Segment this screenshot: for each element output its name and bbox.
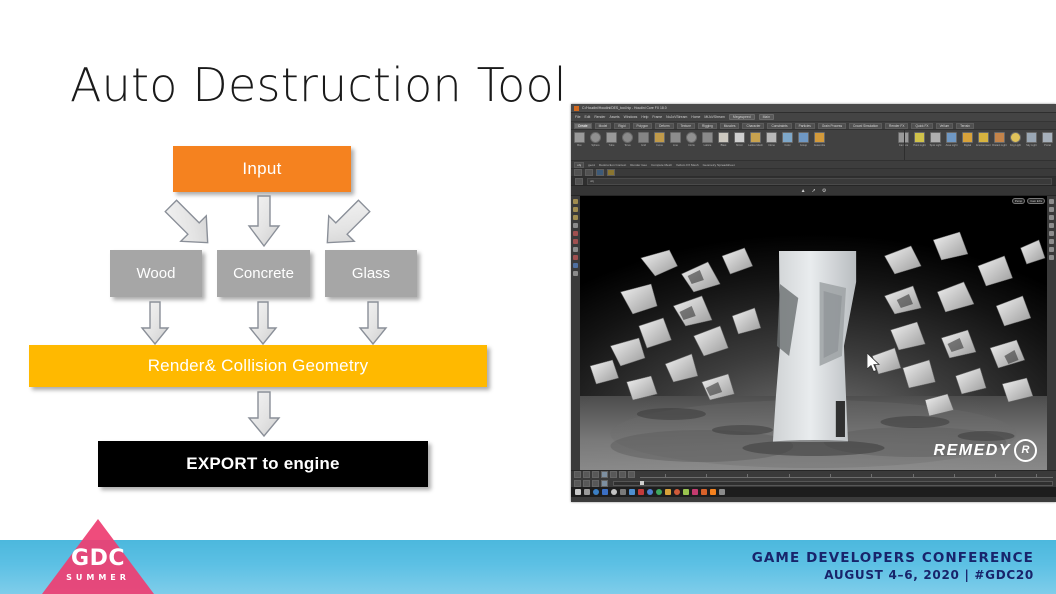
shelf-tool-pointlight[interactable]: Point Light [914,132,925,147]
houdini-taskbar-icon[interactable] [710,489,716,495]
shelf-tool-label: Lattice Mesh [748,144,763,147]
view-layout-icon[interactable] [1049,199,1054,204]
assemble-icon [814,132,825,143]
shelf-tool-label: Fog Light [1010,144,1021,147]
app-title-bar: C:/Houdini/Houdini/DES_tool.hip - Houdin… [571,104,1056,113]
shelf-tool-label: Grid [641,144,646,147]
shelf-tool-assemble[interactable]: Assemble [814,132,825,147]
scope-icon[interactable] [601,480,608,487]
shelf-tool-label: Area Light [946,144,958,147]
menu-item-windows[interactable]: Windows [624,115,638,119]
shelf-tool-label: Circle [688,144,695,147]
app-menu-bar[interactable]: File Edit Render Assets Windows Help Fra… [571,113,1056,122]
shelf-tab-terrain[interactable]: Terrain [956,123,974,129]
autokey-icon[interactable] [583,480,590,487]
menu-item-home[interactable]: Home [691,115,700,119]
select-tool-icon[interactable] [585,169,593,176]
torus-icon [622,132,633,143]
remedy-watermark: REMEDY R [934,439,1037,462]
menu-item-edit[interactable]: Edit [584,115,590,119]
app8-icon[interactable] [683,489,689,495]
shelf-tool-label: Environment [976,144,991,147]
shelf-tab-vellum[interactable]: Vellum [936,123,954,129]
diagram-node-wood: Wood [110,250,202,297]
flow-diagram: Input Wood Concrete Glass [0,0,540,520]
shelf-tool-curve[interactable]: Curve [654,132,665,147]
shelf-tab-renderfx[interactable]: Render FX [885,123,908,129]
diagram-node-export-label: EXPORT to engine [186,454,339,474]
shelf-tab-create[interactable]: Create [574,123,592,129]
diagram-node-concrete-label: Concrete [233,265,294,282]
shelf-tool-arealight[interactable]: Area Light [946,132,957,147]
sky-light-icon [1026,132,1037,143]
tube-icon [606,132,617,143]
lighting-icon[interactable] [1049,223,1054,228]
jump-end-icon[interactable] [619,471,626,478]
houdini-app-screenshot: C:/Houdini/Houdini/DES_tool.hip - Houdin… [571,104,1056,502]
play-reverse-icon[interactable] [592,471,599,478]
camera-view-icon[interactable] [1049,231,1054,236]
shelf-tool-sphere[interactable]: Sphere [590,132,601,147]
path-row[interactable]: obj [571,177,1056,186]
axis-icon[interactable] [573,263,578,268]
bg-image-icon[interactable] [1049,247,1054,252]
playbar-row[interactable] [574,480,1053,487]
shelf-tool-label: Sphere [591,144,599,147]
shelf-tool-label: Digital [964,144,971,147]
path-back-icon[interactable] [575,178,583,185]
portal-icon [1042,132,1053,143]
start-icon[interactable] [575,489,581,495]
mouse-cursor-icon [867,353,881,373]
shelf-tool-clone[interactable]: Clone [766,132,777,147]
display-set-icon[interactable] [1049,255,1054,260]
conference-date: AUGUST 4–6, 2020 | #GDC20 [752,567,1034,583]
step-forward-icon[interactable] [610,471,617,478]
viewport-3d[interactable]: Persp Cam EXs REMEDY R [580,196,1047,470]
shelf-tool-portal[interactable]: Portal [1042,132,1053,147]
blast-icon [718,132,729,143]
shelf-tool-label: Torus [624,144,630,147]
curve-icon [654,132,665,143]
app1-icon[interactable] [611,489,617,495]
group-icon [798,132,809,143]
geometry-mode-icon[interactable] [607,169,615,176]
snap-icon[interactable] [573,239,578,244]
breadcrumb-obj[interactable]: obj [574,162,584,168]
shelf-tool-lattice[interactable]: Lattice [702,132,713,147]
shelf-tab-muscles[interactable]: Muscles [720,123,740,129]
viewport-button-cam[interactable]: Cam EXs [1027,198,1045,204]
keyframe-icon[interactable] [574,480,581,487]
shelf-tool-label: Box [577,144,581,147]
circle-icon [686,132,697,143]
timeline-playbar[interactable] [571,470,1056,487]
distant-light-icon [994,132,1005,143]
menu-item-assets[interactable]: Assets [609,115,619,119]
app11-icon[interactable] [719,489,725,495]
path-input[interactable]: obj [587,178,1052,185]
shelf-divider [904,130,905,160]
shelf-tool-environment[interactable]: Environment [978,132,989,147]
brush-icon[interactable] [573,215,578,220]
folder-icon[interactable] [665,489,671,495]
shelf-tool-label: Line [673,144,678,147]
shelf-tool-label: Distant Light [992,144,1006,147]
environment-light-icon [978,132,989,143]
box-icon [574,132,585,143]
shelf-tab-constraints[interactable]: Constraints [767,123,791,129]
app-title-text: C:/Houdini/Houdini/DES_tool.hip - Houdin… [582,106,667,110]
shelf-tool-line[interactable]: Line [670,132,681,147]
arrow-render-to-export [247,392,281,438]
jump-start-icon[interactable] [574,471,581,478]
breadcrumb-render-geo[interactable]: Render Geo [630,163,647,167]
shelf-tool-label: Point Light [913,144,925,147]
display-options-icon[interactable] [573,271,578,276]
snap-key-icon[interactable] [592,480,599,487]
breadcrumb-geometry-spreadsheet[interactable]: Geometry Spreadsheet [703,163,735,167]
shelf-tab-crowd[interactable]: Crowd Simulation [849,123,882,129]
digital-asset-icon [962,132,973,143]
arrow-input-to-glass [318,198,372,252]
viewport-right-toolbar[interactable] [1047,196,1056,470]
shelf-tab-deform[interactable]: Deform [655,123,673,129]
menu-item-render[interactable]: Render [594,115,605,119]
diagram-node-glass: Glass [325,250,417,297]
menu-item-stream2[interactable]: MtJoVStream [704,115,725,119]
loop-icon[interactable] [628,471,635,478]
shelf-tool-label: Blast [721,144,727,147]
shelf-tab-character[interactable]: Character [742,123,764,129]
transport-row[interactable] [574,471,1053,478]
gdc-logo-subtext: SUMMER [42,574,154,582]
search-icon[interactable] [584,489,590,495]
shelf-tool-label: Sky Light [1026,144,1037,147]
app3-icon[interactable] [629,489,635,495]
shelf-tab-rigid[interactable]: Rigid [614,123,629,129]
app7-icon[interactable] [674,489,680,495]
pivot-icon[interactable] [573,255,578,260]
breadcrumb-vellum-mesh[interactable]: Vellum FX Mesh [676,163,699,167]
shelf-tool-label: Assemble [814,144,825,147]
diagram-node-render-collision-geometry: Render& Collision Geometry [29,345,487,387]
arrow-glass-to-render [358,302,388,346]
shelf-tab-particles[interactable]: Particles [795,123,815,129]
shelf-tool-label: Spot Light [930,144,942,147]
viewport-corner-buttons[interactable]: Persp Cam EXs [1012,198,1045,204]
grid-snap-icon[interactable] [573,247,578,252]
shelf-toolbar[interactable]: Box Sphere Tube Torus Grid Curve Line C [571,130,1056,161]
viewport-button-persp[interactable]: Persp [1012,198,1025,204]
mirror-icon [734,132,745,143]
arrow-input-to-wood [163,198,217,252]
shelf-tool-label: Tube [609,144,615,147]
shelf-tool-digital[interactable]: Digital [962,132,973,147]
rotate-tool-icon[interactable]: ➚ [812,188,816,194]
secondary-toolbar[interactable] [571,169,1056,177]
shelf-tool-color[interactable]: Color [782,132,793,147]
viewport-area: Persp Cam EXs REMEDY R [571,196,1056,470]
desktop-selector[interactable]: Megaspeed [729,114,755,120]
move-tool-icon[interactable]: ▲ [801,188,806,194]
app-icon [574,106,579,111]
shelf-tab-rigging[interactable]: Rigging [698,123,717,129]
shelf-tool-grid[interactable]: Grid [638,132,649,147]
spot-light-icon [930,132,941,143]
shelf-tool-label: Clone [768,144,775,147]
clone-icon [766,132,777,143]
shelf-tool-foglight[interactable]: Fog Light [1010,132,1021,147]
explorer-icon[interactable] [593,489,599,495]
timeline-ruler[interactable] [640,472,1053,478]
shelf-tool-torus[interactable]: Torus [622,132,633,147]
shelf-tab-grain[interactable]: Grain Process [818,123,846,129]
diagram-node-concrete: Concrete [217,250,310,297]
breadcrumb-compute-mesh[interactable]: Compute Mesh [651,163,672,167]
viewport-render [580,196,1047,470]
hand-icon[interactable] [573,223,578,228]
lattice-icon [702,132,713,143]
shelf-tool-label: Curve [656,144,663,147]
arrow-input-to-concrete [247,196,281,248]
viewport-left-toolbar[interactable] [571,196,580,470]
fog-light-icon [1010,132,1021,143]
shelf-tool-blast[interactable]: Blast [718,132,729,147]
shelf-tool-tube[interactable]: Tube [606,132,617,147]
menu-item-stream[interactable]: NoJoVStream [666,115,687,119]
point-light-icon [914,132,925,143]
diagram-node-input-label: Input [242,159,281,179]
viewport-toolbar[interactable]: ▲ ➚ ⚙ [571,186,1056,196]
network-breadcrumb[interactable]: obj geo1 Destruction Context Render Geo … [571,161,1056,169]
shelf-tool-box[interactable]: Box [574,132,585,147]
gdc-logo-text: GDC [42,548,154,570]
diagram-node-export: EXPORT to engine [98,441,428,487]
footer-text: GAME DEVELOPERS CONFERENCE AUGUST 4–6, 2… [752,549,1034,583]
shelf-tool-latticemesh[interactable]: Lattice Mesh [750,132,761,147]
shelf-tool-circle[interactable]: Circle [686,132,697,147]
shelf-tab-row[interactable]: Create Model Rigid Polygon Deform Textur… [571,122,1056,130]
os-taskbar[interactable] [571,487,1056,497]
shading-mode-icon[interactable] [1049,207,1054,212]
ghost-icon[interactable] [1049,239,1054,244]
sphere-icon [590,132,601,143]
conference-name: GAME DEVELOPERS CONFERENCE [752,549,1034,567]
pointer-tool-icon[interactable] [574,169,582,176]
record-icon[interactable] [573,231,578,236]
shelf-tool-label: Group [800,144,807,147]
arrow-wood-to-render [140,302,170,346]
remedy-wordmark: REMEDY [934,442,1011,460]
shelf-tool-label: Color [784,144,790,147]
diagram-node-wood-label: Wood [137,265,176,282]
menu-item-file[interactable]: File [575,115,580,119]
remedy-logo-icon: R [1014,439,1037,462]
shelf-tab-polygon[interactable]: Polygon [633,123,653,129]
lattice-mesh-icon [750,132,761,143]
shelf-tool-distantlight[interactable]: Distant Light [994,132,1005,147]
line-icon [670,132,681,143]
diagram-node-input: Input [173,146,351,192]
playhead-handle[interactable] [640,481,644,485]
app4-icon[interactable] [638,489,644,495]
shelf-tab-texture[interactable]: Texture [677,123,695,129]
shelf-tool-mirror[interactable]: Mirror [734,132,745,147]
app5-icon[interactable] [647,489,653,495]
shelf-tool-skylight[interactable]: Sky Light [1026,132,1037,147]
playbar-range[interactable] [613,481,1053,486]
shelf-tool-label: Mirror [736,144,743,147]
area-light-icon [946,132,957,143]
wireframe-icon[interactable] [1049,215,1054,220]
app6-icon[interactable] [656,489,662,495]
shelf-tool-label: Lattice [704,144,712,147]
breadcrumb-geo[interactable]: geo1 [588,163,595,167]
menu-item-frame[interactable]: Frame [652,115,662,119]
shelf-tab-model[interactable]: Model [595,123,612,129]
view-selector[interactable]: Main [759,114,774,120]
menu-item-help[interactable]: Help [641,115,648,119]
shelf-tab-quickfx[interactable]: Quick FX [911,123,932,129]
shelf-tool-spotlight[interactable]: Spot Light [930,132,941,147]
grid-icon [638,132,649,143]
paint-icon[interactable] [573,207,578,212]
gdc-logo: GDC SUMMER [42,519,154,594]
app10-icon[interactable] [701,489,707,495]
browser-icon[interactable] [602,489,608,495]
breadcrumb-destruction-context[interactable]: Destruction Context [599,163,626,167]
shelf-tool-label: Portal [1044,144,1051,147]
select-icon[interactable] [573,199,578,204]
step-back-icon[interactable] [583,471,590,478]
object-mode-icon[interactable] [596,169,604,176]
app9-icon[interactable] [692,489,698,495]
diagram-node-render-label: Render& Collision Geometry [148,356,369,376]
color-icon [782,132,793,143]
arrow-concrete-to-render [248,302,278,346]
scale-tool-icon[interactable]: ⚙ [822,188,826,194]
app2-icon[interactable] [620,489,626,495]
play-icon[interactable] [601,471,608,478]
shelf-tool-group[interactable]: Group [798,132,809,147]
diagram-node-glass-label: Glass [352,265,390,282]
